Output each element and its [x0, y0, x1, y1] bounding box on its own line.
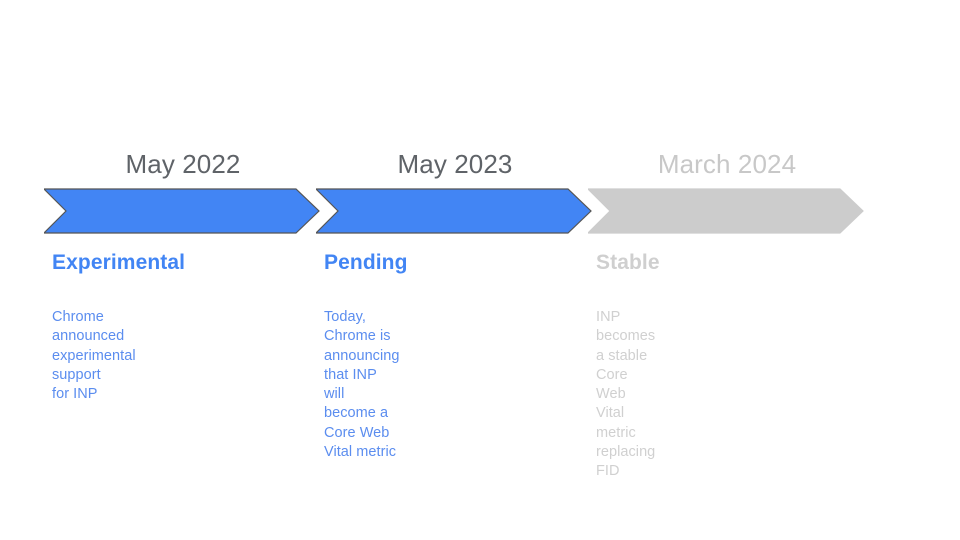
stage-heading-experimental: Experimental	[52, 250, 185, 276]
stage-chevron-experimental	[44, 188, 322, 232]
stage-body-stable: INP becomes a stable Core Web Vital metr…	[596, 308, 655, 482]
stage-heading-pending: Pending	[324, 250, 408, 276]
stage-heading-stable: Stable	[596, 250, 660, 276]
stage-body-pending: Today, Chrome is announcing that INP wil…	[324, 308, 399, 462]
stage-chevron-pending	[316, 188, 594, 232]
chevron-arrow-icon	[588, 188, 866, 234]
stage-body-experimental: Chrome announced experimental support fo…	[52, 308, 136, 404]
stage-date-label: March 2024	[588, 148, 866, 180]
chevron-arrow-icon	[316, 188, 594, 234]
stage-chevron-stable	[588, 188, 866, 232]
chevron-arrow-icon	[44, 188, 322, 234]
stage-date-label: May 2023	[316, 148, 594, 180]
inp-timeline-diagram: May 2022 Experimental Chrome announced e…	[0, 0, 960, 540]
stage-date-label: May 2022	[44, 148, 322, 180]
